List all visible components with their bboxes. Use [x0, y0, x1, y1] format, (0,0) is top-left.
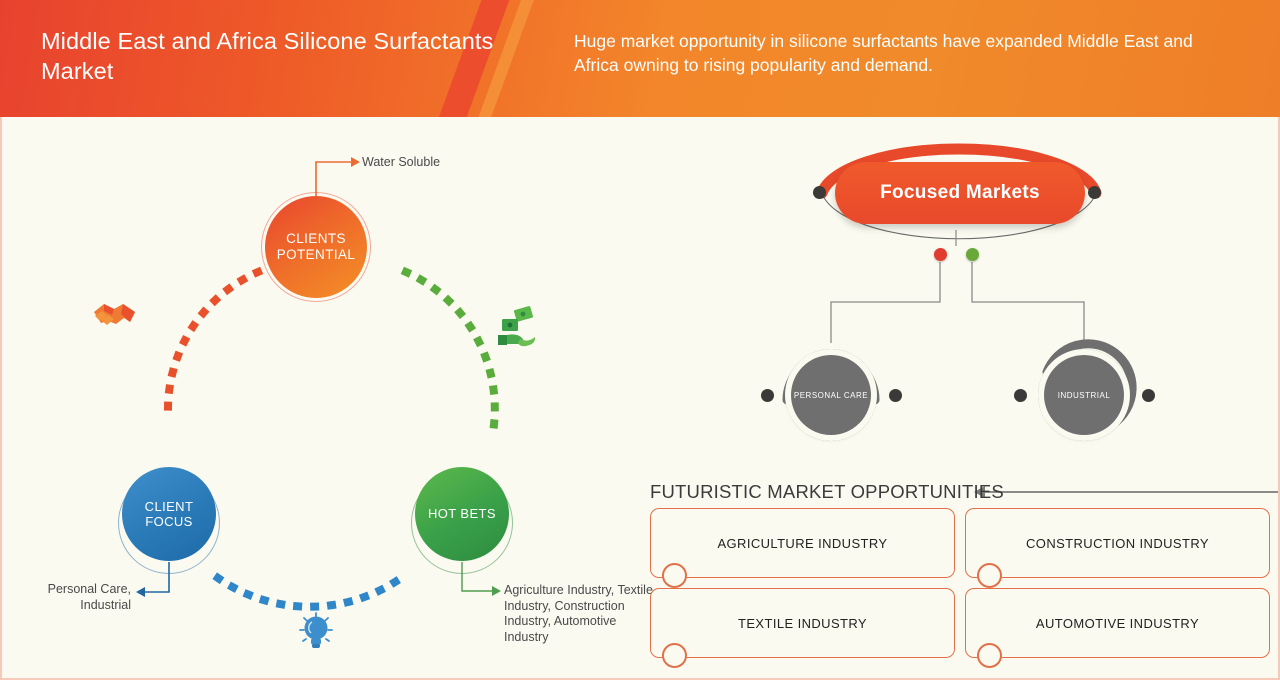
label-hot-bets-callout: Agriculture Industry, Textile Industry, … — [504, 583, 654, 645]
segment-personal-care[interactable]: PERSONAL CARE — [779, 343, 883, 447]
focused-markets-pill[interactable]: Focused Markets — [835, 162, 1085, 224]
focused-markets-right-node-dot — [1088, 186, 1101, 199]
opportunity-box-textile[interactable]: TEXTILE INDUSTRY — [650, 588, 955, 658]
segment-industrial[interactable]: INDUSTRIAL — [1032, 343, 1136, 447]
opportunity-box-automotive[interactable]: AUTOMOTIVE INDUSTRY — [965, 588, 1270, 658]
personal-care-label: PERSONAL CARE — [791, 355, 871, 435]
personal-care-right-dot — [889, 389, 902, 402]
infographic-page: Middle East and Africa Silicone Surfacta… — [0, 0, 1280, 680]
header-subtitle: Huge market opportunity in silicone surf… — [574, 29, 1234, 77]
personal-care-left-dot — [761, 389, 774, 402]
opportunity-box-agriculture[interactable]: AGRICULTURE INDUSTRY — [650, 508, 955, 578]
opportunity-box-construction[interactable]: CONSTRUCTION INDUSTRY — [965, 508, 1270, 578]
focused-markets-title: Focused Markets — [880, 182, 1040, 204]
label-water-soluble: Water Soluble — [362, 154, 440, 170]
futuristic-boxes-grid: AGRICULTURE INDUSTRY CONSTRUCTION INDUST… — [650, 508, 1270, 658]
industrial-label: INDUSTRIAL — [1044, 355, 1124, 435]
green-dot — [966, 248, 979, 261]
cycle-node-client-focus[interactable]: CLIENT FOCUS — [122, 467, 216, 561]
cycle-node-hot-bets[interactable]: HOT BETS — [415, 467, 509, 561]
industrial-right-dot — [1142, 389, 1155, 402]
cycle-diagram: CLIENTS POTENTIAL CLIENT FOCUS HOT BETS … — [0, 0, 645, 563]
focused-markets-left-node-dot — [813, 186, 826, 199]
industrial-left-dot — [1014, 389, 1027, 402]
red-dot — [934, 248, 947, 261]
label-client-focus-callout: Personal Care, Industrial — [16, 581, 131, 613]
cycle-node-clients-potential[interactable]: CLIENTS POTENTIAL — [265, 196, 367, 298]
futuristic-section-title: FUTURISTIC MARKET OPPORTUNITIES — [650, 481, 1004, 503]
